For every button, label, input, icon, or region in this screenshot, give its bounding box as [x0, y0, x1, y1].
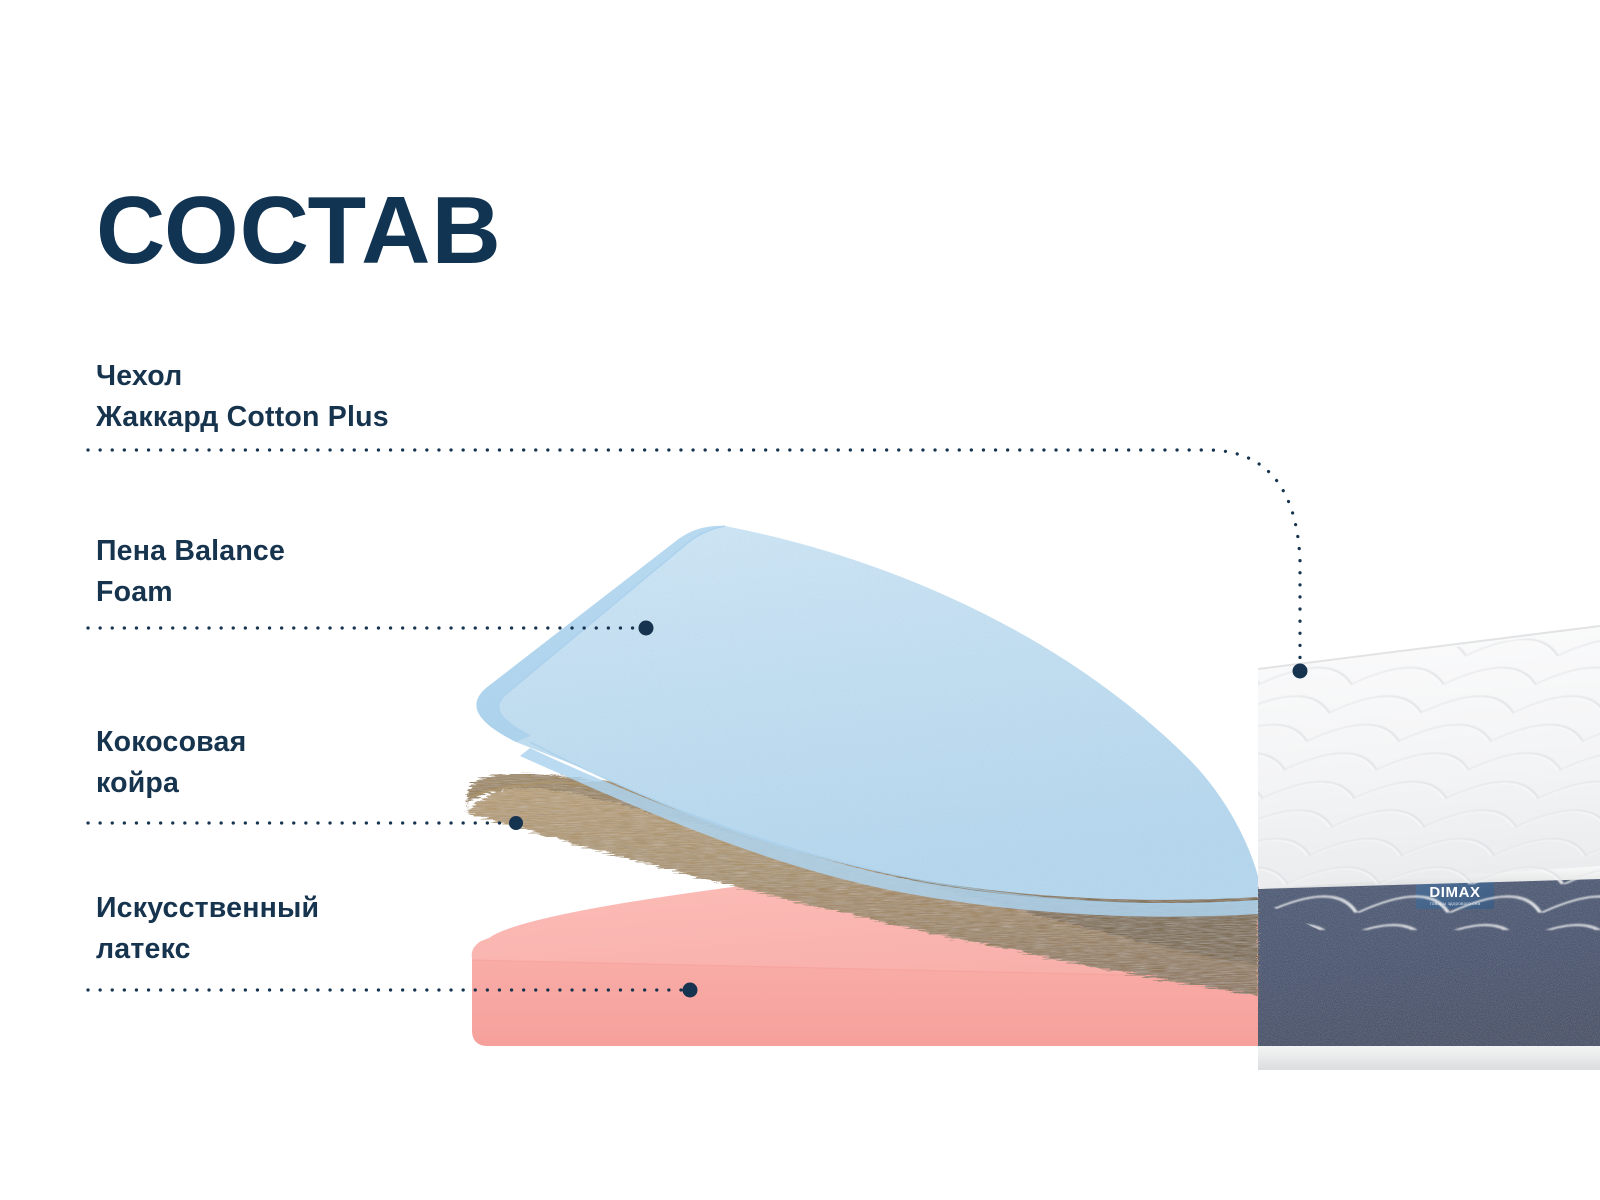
balance-foam-layer [476, 526, 1258, 917]
callout-latex-line-1: Искусственный [96, 888, 319, 929]
leader-dot-foam [639, 621, 654, 636]
callout-foam-line-2: Foam [96, 572, 285, 613]
callout-cover-line-2: Жаккард Cotton Plus [96, 397, 389, 438]
callout-coir-line-2: койра [96, 763, 246, 804]
leader-dot-coir [509, 816, 523, 830]
callout-latex-line-2: латекс [96, 929, 319, 970]
callout-latex: Искусственный латекс [96, 888, 319, 970]
callout-foam: Пена Balance Foam [96, 531, 285, 613]
leader-dot-latex [683, 983, 698, 998]
callout-cover: Чехол Жаккард Cotton Plus [96, 356, 389, 438]
callout-foam-line-1: Пена Balance [96, 531, 285, 572]
page-title: СОСТАВ [96, 183, 502, 279]
callout-coir-line-1: Кокосовая [96, 722, 246, 763]
leader-dot-cover [1293, 664, 1308, 679]
callout-cover-line-1: Чехол [96, 356, 389, 397]
composition-infographic: DIMAX товары здорового сна [0, 0, 1600, 1200]
callout-coir: Кокосовая койра [96, 722, 246, 804]
